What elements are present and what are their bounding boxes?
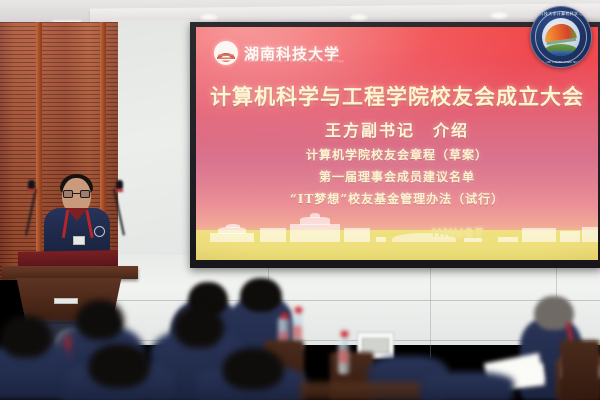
microphone-ring [116, 189, 123, 192]
audience-member-head [222, 348, 284, 390]
emblem-arc-bottom-text: SCHOOL OF COMPUTER SCIENCE AND ENGINEERI… [531, 60, 591, 64]
audience-member-head [88, 344, 150, 388]
podium-top-surface [2, 266, 138, 279]
audience-member [418, 372, 514, 400]
emblem-inner [542, 18, 580, 56]
agenda-item-2: 第一届理事会成员建议名单 [196, 168, 598, 185]
screen-title: 计算机科学与工程学院校友会成立大会 [196, 85, 598, 108]
screen-subtitle: 王方副书记 介绍 [196, 117, 598, 141]
wall-seam [430, 258, 431, 358]
campus-skyline: HNUST [196, 208, 598, 242]
audience-member-head [0, 316, 52, 358]
skyline-wordmark: HNUST [432, 225, 484, 240]
emblem-arc-top-text: 湖南科技大学计算机科学与工程学院 [531, 11, 591, 17]
emblem-swoosh-icon [543, 22, 577, 42]
agenda-item-1: 计算机学院校友会章程（草案） [196, 146, 598, 163]
chair-back [560, 340, 600, 400]
ceiling-downlight [350, 14, 368, 21]
agenda-item-3: “IT梦想”校友基金管理办法（试行） [196, 190, 598, 207]
audience-member-head [174, 306, 224, 348]
college-emblem: 湖南科技大学计算机科学与工程学院 SCHOOL OF COMPUTER SCIE… [530, 6, 592, 68]
university-name-english: Hunan University of Science and Technolo… [244, 58, 344, 63]
audience-member-head [76, 300, 124, 340]
microphone-ring [28, 189, 35, 192]
desk [300, 382, 420, 400]
audience-member-head [240, 278, 282, 312]
emblem-wave-icon [542, 51, 580, 56]
screen-text-block: 计算机科学与工程学院校友会成立大会 王方副书记 介绍 计算机学院校友会章程（草案… [196, 85, 598, 207]
ceiling-downlight [490, 12, 508, 19]
photo-scene: 湖南科技大学 Hunan University of Science and T… [0, 0, 600, 400]
podium-nameplate [54, 298, 78, 304]
speaker-glasses-icon [63, 190, 90, 198]
water-bottle [338, 336, 349, 374]
university-mark-icon [214, 41, 238, 65]
